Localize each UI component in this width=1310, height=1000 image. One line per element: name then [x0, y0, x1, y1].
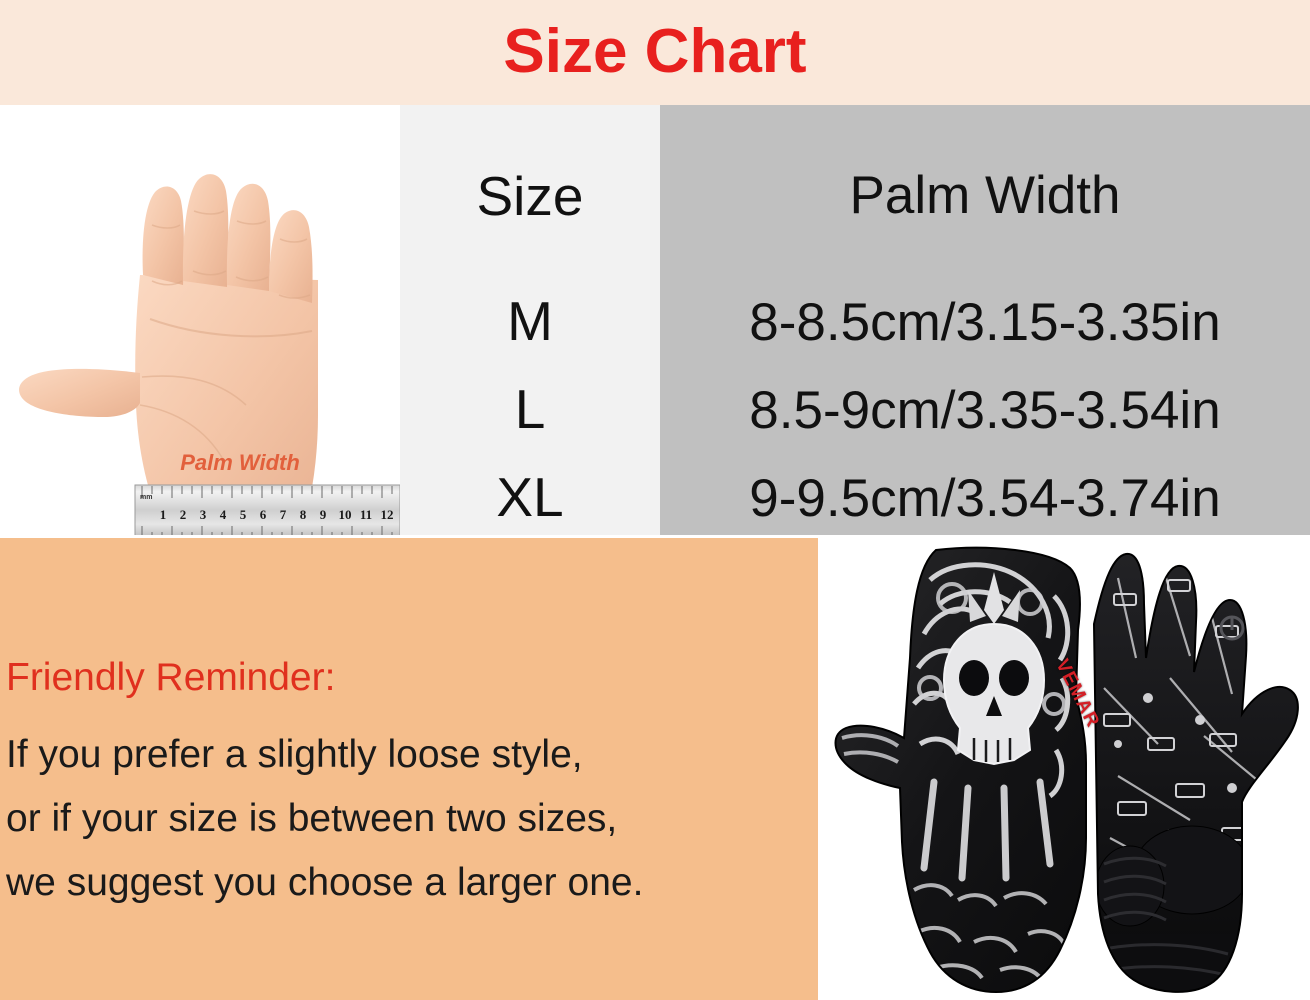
reminder-heading: Friendly Reminder: [6, 653, 335, 703]
size-cell-m: M [400, 285, 660, 357]
size-cell-xl: XL [400, 461, 660, 533]
svg-text:5: 5 [240, 507, 247, 522]
hand-measurement-figure: mm 12 34 56 78 910 1112 Palm Width [0, 105, 400, 535]
header-band: Size Chart [0, 0, 1310, 105]
size-column: Size M L XL [400, 105, 660, 535]
svg-text:7: 7 [280, 507, 287, 522]
gloves-illustration-icon [818, 538, 1310, 1000]
svg-text:10: 10 [339, 507, 352, 522]
svg-text:1: 1 [160, 507, 167, 522]
reminder-panel: Friendly Reminder: If you prefer a sligh… [0, 538, 818, 1000]
reminder-line-2: or if your size is between two sizes, [6, 794, 617, 844]
svg-text:9: 9 [320, 507, 327, 522]
ruler-unit-label: mm [140, 494, 152, 501]
column-header-size: Size [400, 160, 660, 232]
reminder-line-3: we suggest you choose a larger one. [6, 858, 643, 908]
svg-text:2: 2 [180, 507, 187, 522]
size-cell-l: L [400, 373, 660, 445]
size-chart-page: Size Chart [0, 0, 1310, 1000]
palm-width-column: Palm Width 8-8.5cm/3.15-3.35in 8.5-9cm/3… [660, 105, 1310, 535]
palm-width-caption: Palm Width [120, 450, 360, 476]
glove-product-photo: VEMAR [818, 538, 1310, 1000]
svg-text:8: 8 [300, 507, 307, 522]
svg-text:11: 11 [360, 507, 372, 522]
page-title: Size Chart [0, 14, 1310, 90]
svg-text:12: 12 [381, 507, 394, 522]
palm-width-cell-m: 8-8.5cm/3.15-3.35in [660, 287, 1310, 359]
ruler-icon: mm 12 34 56 78 910 1112 [135, 485, 400, 535]
svg-text:4: 4 [220, 507, 227, 522]
svg-text:3: 3 [200, 507, 207, 522]
size-table-section: mm 12 34 56 78 910 1112 Palm Width Size … [0, 105, 1310, 538]
svg-text:6: 6 [260, 507, 267, 522]
column-header-palm-width: Palm Width [660, 160, 1310, 232]
palm-width-cell-xl: 9-9.5cm/3.54-3.74in [660, 463, 1310, 535]
reminder-section: Friendly Reminder: If you prefer a sligh… [0, 538, 1310, 1000]
reminder-line-1: If you prefer a slightly loose style, [6, 730, 583, 780]
palm-width-cell-l: 8.5-9cm/3.35-3.54in [660, 375, 1310, 447]
